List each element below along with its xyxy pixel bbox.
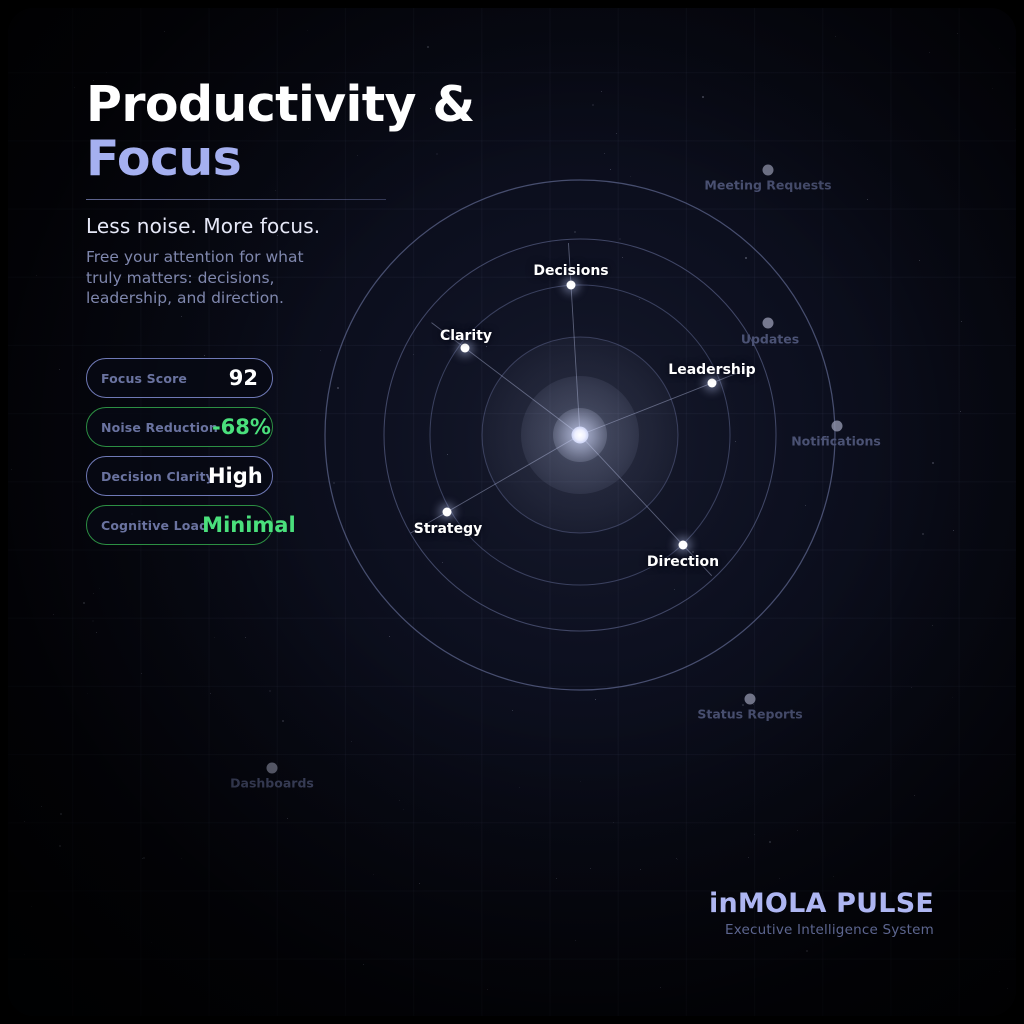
noise-node-label: Dashboards: [230, 776, 314, 791]
background-star: [919, 260, 920, 261]
focus-node-label: Strategy: [414, 521, 482, 537]
focus-core-node[interactable]: [572, 427, 589, 444]
background-star: [742, 704, 744, 706]
background-star: [333, 482, 335, 484]
metric-label: Decision Clarity: [101, 469, 214, 484]
subcopy: Free your attention for what truly matte…: [86, 247, 338, 309]
background-star: [96, 632, 97, 633]
background-star: [595, 699, 596, 700]
background-star: [92, 620, 94, 622]
brand-subtitle: Executive Intelligence System: [709, 922, 934, 938]
background-star: [953, 530, 954, 531]
background-star: [31, 906, 32, 907]
background-star: [59, 369, 60, 370]
core-halo-inner: [553, 408, 607, 462]
noise-node[interactable]: [763, 165, 774, 176]
visualization-panel: DecisionsClarityLeadershipStrategyDirect…: [8, 8, 1016, 1016]
background-star: [660, 987, 661, 988]
background-star: [337, 387, 339, 389]
background-star: [556, 878, 557, 879]
background-star: [287, 818, 288, 819]
background-star: [93, 593, 94, 594]
background-star: [269, 690, 271, 692]
background-star: [639, 299, 640, 300]
background-star: [1007, 988, 1008, 989]
page-title-line-1: Productivity &: [86, 78, 516, 132]
background-star: [486, 346, 487, 347]
background-star: [676, 858, 677, 859]
background-star: [601, 91, 602, 92]
background-star: [722, 188, 723, 189]
background-star: [142, 858, 143, 859]
background-star: [181, 858, 182, 859]
background-star: [769, 841, 771, 843]
background-star: [674, 589, 675, 590]
metric-value: Minimal: [202, 513, 296, 537]
focus-node-label: Clarity: [440, 328, 492, 344]
core-halo-mid: [521, 376, 639, 494]
focus-node[interactable]: [708, 379, 717, 388]
focus-node[interactable]: [461, 344, 470, 353]
core-halo-outer: [482, 337, 678, 533]
background-star: [41, 806, 42, 807]
noise-node-label: Updates: [741, 332, 799, 347]
background-star: [389, 636, 390, 637]
focus-node[interactable]: [443, 508, 452, 517]
background-star: [143, 857, 145, 859]
background-star: [613, 822, 614, 823]
background-star: [53, 614, 54, 615]
background-star: [914, 795, 915, 796]
background-star: [580, 781, 581, 782]
headline-block: Productivity & Focus: [86, 78, 516, 186]
background-star: [960, 411, 961, 412]
background-star: [932, 462, 934, 464]
orbit-ring: [430, 285, 730, 585]
background-star: [181, 316, 182, 317]
tagline: Less noise. More focus.: [86, 214, 320, 238]
background-star: [512, 710, 513, 711]
background-star: [753, 704, 754, 705]
background-star: [99, 588, 100, 589]
background-star: [622, 257, 623, 258]
noise-node[interactable]: [832, 421, 843, 432]
background-star: [83, 602, 85, 604]
background-star: [320, 350, 321, 351]
background-star: [590, 868, 591, 869]
background-star: [630, 176, 631, 177]
background-star: [592, 104, 594, 106]
background-star: [692, 551, 694, 553]
background-star: [616, 133, 617, 134]
background-star: [961, 321, 962, 322]
background-star: [677, 859, 678, 860]
background-star: [11, 469, 12, 470]
background-star: [999, 971, 1000, 972]
background-star: [351, 741, 352, 742]
background-star: [779, 878, 780, 879]
orbit-spoke: [580, 368, 751, 435]
background-star: [619, 238, 621, 240]
noise-node-label: Notifications: [791, 434, 881, 449]
background-star: [610, 169, 611, 170]
focus-node-label: Decisions: [533, 263, 608, 279]
metrics-list: Focus Score92Noise Reduction-68%Decision…: [86, 358, 273, 554]
noise-node-label: Status Reports: [697, 707, 802, 722]
background-star: [564, 267, 565, 268]
metric-card[interactable]: Decision ClarityHigh: [86, 456, 273, 496]
background-star: [702, 96, 704, 98]
background-star: [59, 845, 61, 847]
background-star: [735, 441, 736, 442]
background-star: [245, 637, 246, 638]
background-star: [487, 989, 488, 990]
background-star: [24, 954, 25, 955]
metric-card[interactable]: Focus Score92: [86, 358, 273, 398]
background-star: [24, 821, 25, 822]
metric-value: High: [208, 464, 263, 488]
background-star: [952, 697, 953, 698]
background-star: [640, 869, 641, 870]
background-star: [1015, 129, 1016, 130]
background-star: [447, 454, 448, 455]
background-star: [748, 857, 749, 858]
background-star: [867, 199, 868, 200]
orbit-ring: [325, 180, 835, 690]
page-title-line-2: Focus: [86, 132, 516, 186]
background-star: [911, 687, 912, 688]
brand-block: inMOLA PULSE Executive Intelligence Syst…: [709, 888, 934, 938]
background-star: [403, 809, 404, 810]
background-star: [87, 693, 88, 694]
background-star: [835, 36, 836, 37]
background-star: [574, 231, 576, 233]
background-star: [210, 693, 211, 694]
orbit-spoke: [580, 435, 712, 576]
metric-card[interactable]: Cognitive LoadMinimal: [86, 505, 273, 545]
noise-node[interactable]: [267, 763, 278, 774]
background-star: [413, 354, 414, 355]
background-star: [476, 534, 478, 536]
background-star: [806, 950, 808, 952]
background-star: [141, 673, 142, 674]
background-star: [282, 720, 284, 722]
noise-node[interactable]: [763, 318, 774, 329]
background-star: [373, 874, 374, 875]
background-star: [575, 940, 576, 941]
background-star: [74, 87, 75, 88]
background-star: [604, 153, 605, 154]
background-star: [151, 942, 152, 943]
background-star: [999, 48, 1000, 49]
background-star: [745, 257, 747, 259]
background-star: [427, 46, 429, 48]
focus-node-label: Leadership: [668, 362, 755, 378]
background-star: [106, 72, 107, 73]
metric-card[interactable]: Noise Reduction-68%: [86, 407, 273, 447]
background-star: [60, 813, 62, 815]
focus-node-label: Direction: [647, 554, 719, 570]
background-star: [992, 88, 993, 89]
screenshot-root: DecisionsClarityLeadershipStrategyDirect…: [0, 0, 1024, 1024]
title-divider: [86, 199, 386, 200]
orbit-spokes: [411, 243, 751, 576]
background-star: [519, 787, 520, 788]
orbit-rings: [325, 180, 835, 690]
background-star: [204, 355, 205, 356]
background-star: [922, 533, 924, 535]
noise-node-label: Meeting Requests: [704, 178, 831, 193]
metric-value: -68%: [212, 415, 271, 439]
background-star: [932, 625, 933, 626]
metric-label: Cognitive Load: [101, 518, 208, 533]
background-star: [275, 190, 276, 191]
brand-name: inMOLA PULSE: [709, 888, 934, 920]
background-star: [957, 33, 958, 34]
background-star: [307, 30, 308, 31]
background-star: [36, 275, 37, 276]
orbit-ring: [482, 337, 678, 533]
background-star: [399, 800, 400, 801]
background-star: [754, 834, 755, 835]
orbit-ring: [384, 239, 776, 631]
metric-label: Focus Score: [101, 371, 187, 386]
orbit-spoke: [411, 435, 580, 533]
background-star: [929, 52, 930, 53]
background-star: [797, 830, 798, 831]
noise-node[interactable]: [745, 694, 756, 705]
background-star: [363, 964, 364, 965]
focus-node[interactable]: [679, 541, 688, 550]
metric-value: 92: [229, 366, 258, 390]
background-star: [214, 637, 215, 638]
background-star: [419, 883, 420, 884]
orbit-spoke: [432, 323, 580, 435]
background-star: [833, 876, 834, 877]
background-star: [164, 31, 165, 32]
background-star: [769, 166, 770, 167]
background-star: [442, 562, 443, 563]
orbit-spoke: [568, 243, 580, 435]
background-star: [805, 505, 806, 506]
focus-node[interactable]: [567, 281, 576, 290]
metric-label: Noise Reduction: [101, 420, 218, 435]
